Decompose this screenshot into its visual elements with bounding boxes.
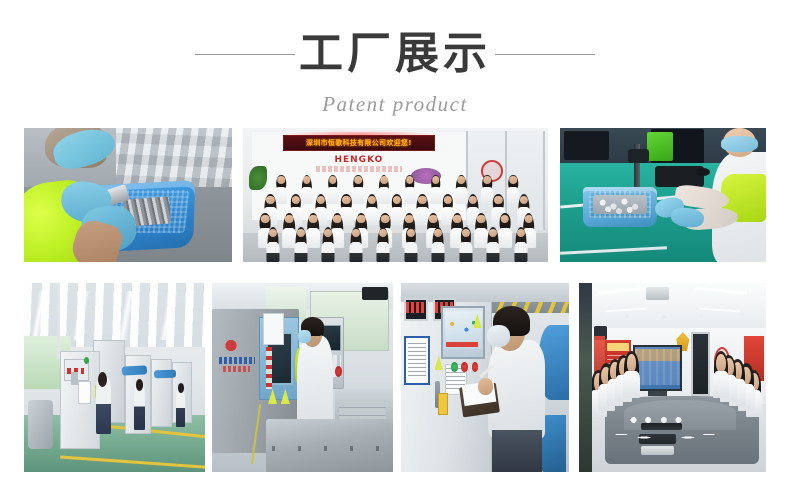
photo-conference-meeting[interactable]: [579, 283, 766, 472]
blue-machine-arm: [154, 370, 176, 378]
photo-assembly-sorting[interactable]: [24, 128, 232, 262]
photo-conference-meeting-scene: [579, 283, 766, 472]
attendees-right: [714, 362, 763, 468]
page-subtitle: Patent product: [0, 92, 790, 117]
page-title: 工厂展示: [295, 28, 495, 80]
equipment-status-tag: [438, 393, 448, 416]
operator-torso: [176, 389, 185, 427]
technician-torso: [488, 340, 545, 438]
staff-member: [322, 229, 335, 261]
stop-button-icon: [472, 362, 479, 371]
face-mask-icon: [487, 325, 511, 348]
photo-gallery: 深圳市恒歌科技有限公司欢迎您! HENGKO: [24, 128, 766, 472]
wall-logo: HENGKO: [316, 155, 401, 166]
photo-process-control-scene: [401, 283, 569, 472]
photo-quality-inspection[interactable]: [560, 128, 766, 262]
gallery-row-bottom: [24, 283, 766, 472]
photo-production-line[interactable]: [24, 283, 205, 472]
face-mask-icon: [721, 136, 758, 152]
technician-hand: [478, 378, 493, 395]
presentation-display-content: [635, 349, 680, 385]
photo-cnc-machining[interactable]: [212, 283, 393, 472]
steel-fixture-bolt-row: [272, 446, 393, 452]
wall-poster-title: [607, 343, 629, 351]
staff-rows: [258, 176, 536, 256]
machine-button-column: [266, 347, 271, 389]
equipment-cabinet: [151, 359, 173, 427]
wall-logo-text: HENGKO: [334, 155, 383, 165]
photo-company-group-scene: 深圳市恒歌科技有限公司欢迎您! HENGKO: [243, 128, 548, 262]
posted-document-text: [408, 343, 426, 377]
machine-brand-subtext: [223, 366, 250, 372]
led-banner-text: 深圳市恒歌科技有限公司欢迎您!: [306, 138, 412, 148]
factory-showcase-page: 工厂展示 Patent product: [0, 0, 790, 500]
operator-torso: [134, 385, 145, 430]
digital-meter-readout: [406, 302, 426, 313]
monitor-icon-left: [564, 131, 609, 160]
photo-cnc-machining-scene: [212, 283, 393, 472]
gallery-row-top: 深圳市恒歌科技有限公司欢迎您! HENGKO: [24, 128, 766, 262]
wall-logo-subtext: [316, 166, 401, 173]
keyboard-icon: [641, 446, 675, 455]
support-post: [57, 283, 61, 359]
photo-production-line-scene: [24, 283, 205, 472]
microscope-camera-icon: [628, 149, 649, 162]
meeting-room-door: [691, 332, 710, 396]
staff-row-front: [258, 229, 536, 261]
staff-member: [377, 229, 390, 261]
green-equipment-box: [647, 132, 674, 161]
staff-member: [294, 229, 307, 261]
face-mask-icon: [298, 330, 311, 343]
photo-company-group[interactable]: 深圳市恒歌科技有限公司欢迎您! HENGKO: [243, 128, 548, 262]
machine-brand-text: [219, 357, 255, 365]
attendees-left: [590, 362, 639, 468]
title-row: 工厂展示: [0, 26, 790, 82]
ceiling-lights: [24, 291, 205, 340]
led-welcome-banner: 深圳市恒歌科技有限公司欢迎您!: [283, 135, 436, 151]
vent-grille-icon: [71, 372, 78, 385]
staff-member: [267, 229, 280, 261]
staff-member: [432, 229, 445, 261]
machine-brand-mark-icon: [223, 336, 239, 355]
divider-line-right: [495, 54, 595, 55]
photo-quality-inspection-scene: [560, 128, 766, 262]
ceiling-downlights: [601, 313, 743, 321]
attendee: [713, 354, 730, 396]
attendee: [623, 354, 640, 396]
sintered-filter-elements: [593, 195, 647, 214]
adjacent-photo-edge: [579, 283, 592, 472]
staff-member: [514, 229, 527, 261]
start-button-icon: [451, 362, 458, 371]
posted-document: [78, 381, 91, 404]
section-header: 工厂展示 Patent product: [0, 0, 790, 117]
posted-document: [263, 313, 285, 345]
hmi-alarm-bar: [446, 342, 478, 348]
divider-line-left: [195, 54, 295, 55]
overhead-sign: [362, 287, 387, 300]
hmi-screen-graphics: [446, 317, 480, 340]
material-cart: [28, 400, 53, 449]
technician-trousers: [492, 430, 542, 472]
operator-head: [178, 383, 184, 392]
photo-assembly-sorting-scene: [24, 128, 232, 262]
staff-member: [404, 229, 417, 261]
photo-process-control-check[interactable]: [401, 283, 569, 472]
staff-member: [459, 229, 472, 261]
ceiling-projector-icon: [646, 287, 668, 300]
staff-member: [487, 229, 500, 261]
staff-member: [349, 229, 362, 261]
